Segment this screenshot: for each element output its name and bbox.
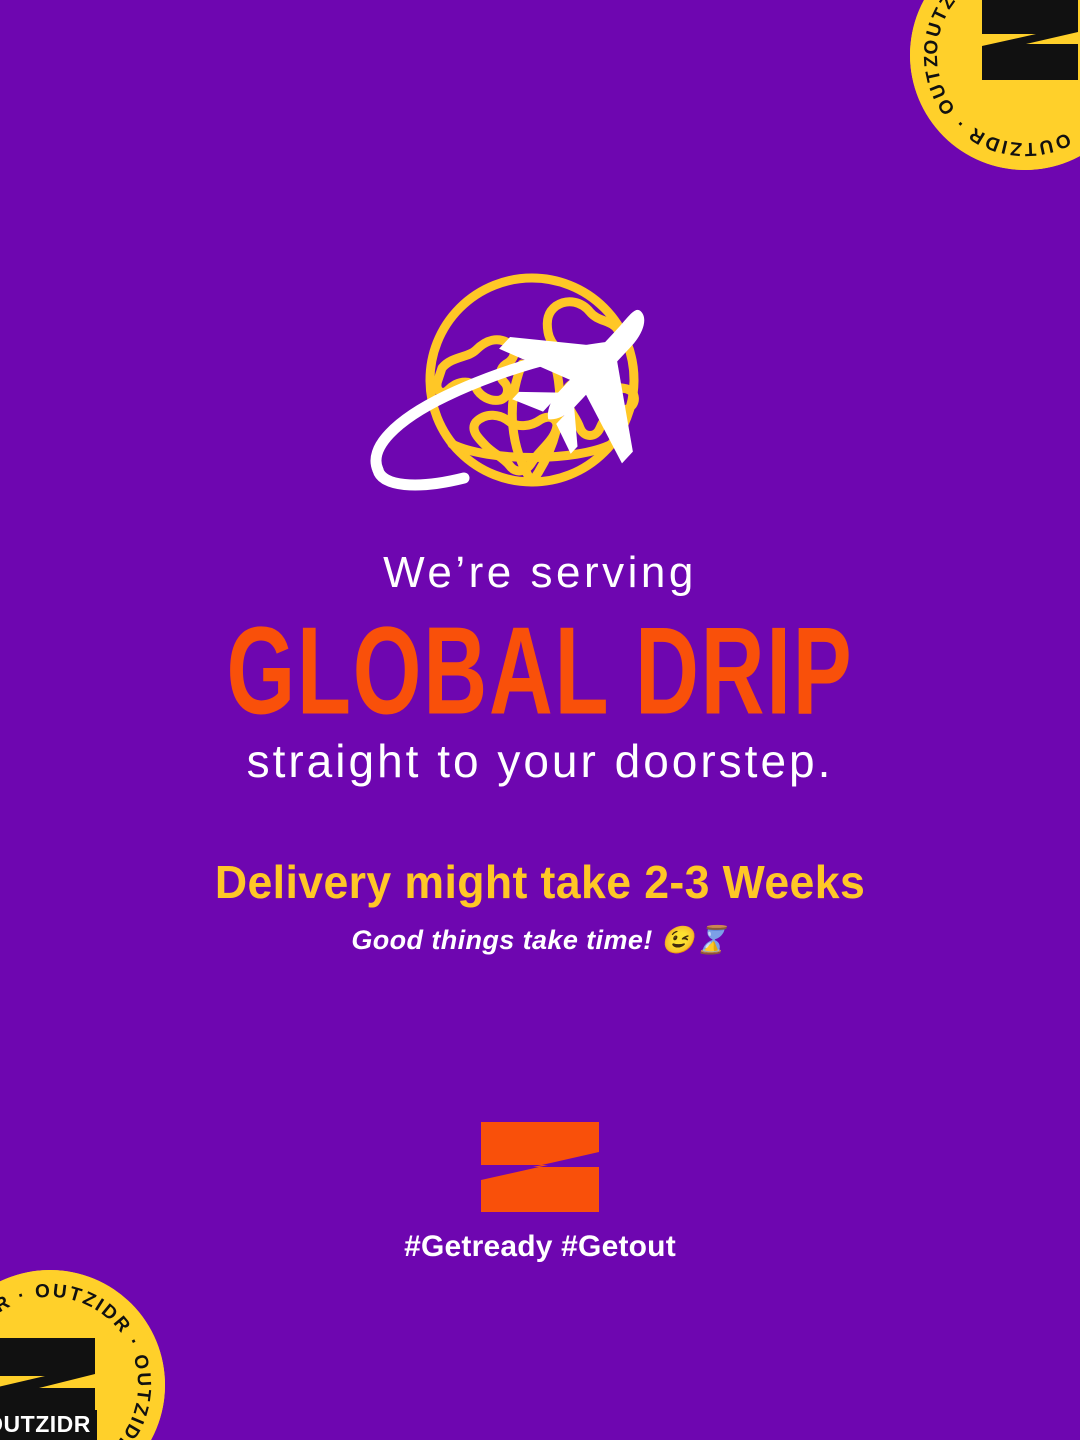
copy-block: We’re serving GLOBAL DRIP straight to yo… [0,548,1080,957]
promo-poster: OUTZIDR · OUTZIDR · OUTZIDR · OUTZIDR · … [0,0,1080,1440]
footer-block: #Getready #Getout [0,1120,1080,1264]
seal-wordmark: OUTZIDR [0,1410,97,1440]
outzidr-seal-icon-top-right: OUTZIDR · OUTZIDR · OUTZIDR · OUTZIDR · … [910,0,1080,170]
svg-text:OUTZIDR: OUTZIDR [0,1411,91,1437]
hashtags-text: #Getready #Getout [404,1230,676,1264]
eyebrow-text: We’re serving [0,548,1080,597]
subhead-text: straight to your doorstep. [0,736,1080,788]
reassurance-text: Good things take time! 😉⌛ [0,924,1080,956]
globe-airplane-illustration [0,272,1080,504]
z-logo-icon [478,1120,602,1214]
headline-text: GLOBAL DRIP [43,607,1037,738]
delivery-time-text: Delivery might take 2-3 Weeks [16,856,1064,909]
outzidr-seal-icon-bottom-left: OUTZIDR · OUTZIDR · OUTZIDR · OUTZIDR · … [0,1270,165,1440]
